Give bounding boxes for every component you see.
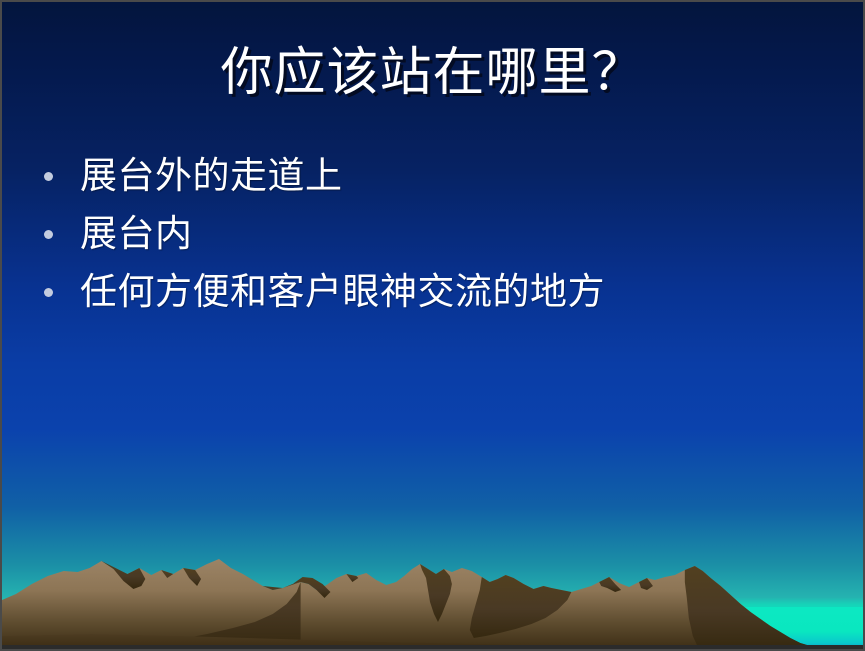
round-bullet-icon bbox=[44, 288, 53, 297]
list-item-label: 展台外的走道上 bbox=[80, 154, 343, 198]
presentation-slide: 你应该站在哪里？ 展台外的走道上 展台内 任何方便和客户眼神交流的地方 bbox=[0, 0, 865, 651]
mountain-range-graphic bbox=[2, 458, 863, 649]
list-item-label: 展台内 bbox=[80, 212, 193, 256]
slide-title: 你应该站在哪里？ bbox=[2, 42, 863, 104]
list-item[interactable]: 任何方便和客户眼神交流的地方 bbox=[38, 270, 798, 314]
list-item[interactable]: 展台外的走道上 bbox=[38, 154, 798, 198]
slide-bottom-trim bbox=[2, 645, 863, 649]
round-bullet-icon bbox=[44, 230, 53, 239]
list-item[interactable]: 展台内 bbox=[38, 212, 798, 256]
slide-body-bullet-list: 展台外的走道上 展台内 任何方便和客户眼神交流的地方 bbox=[38, 154, 798, 328]
list-item-label: 任何方便和客户眼神交流的地方 bbox=[80, 270, 605, 314]
round-bullet-icon bbox=[44, 172, 53, 181]
mountain-shadow-ridge-far-right bbox=[685, 566, 828, 649]
